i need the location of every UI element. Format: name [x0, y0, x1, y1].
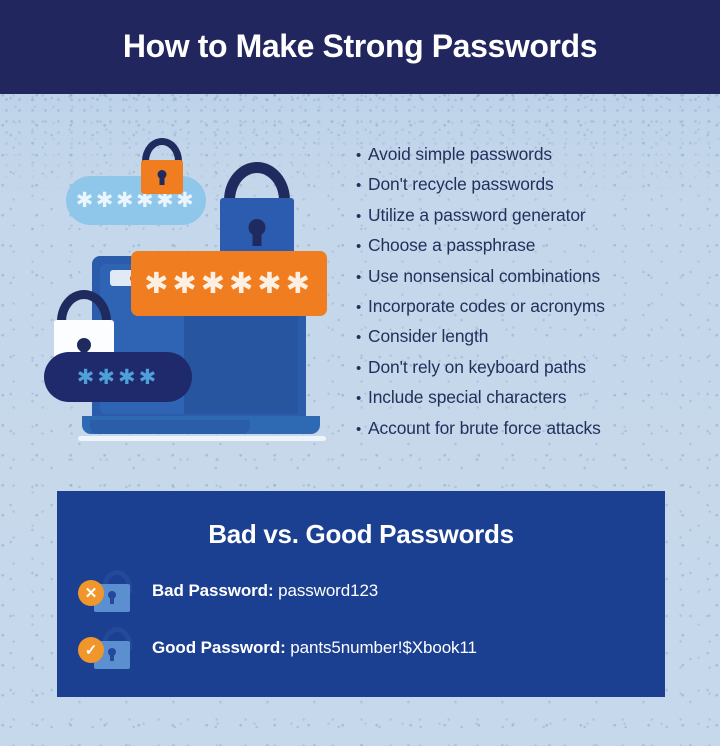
list-item: • Don't recycle passwords — [356, 174, 686, 204]
masked-password-field-orange: ✱✱✱✱✱✱ — [131, 251, 327, 316]
masked-password-field-light: ✱✱✱✱✱✱ — [66, 176, 206, 225]
list-item: • Utilize a password generator — [356, 205, 686, 235]
list-item: • Include special characters — [356, 387, 686, 417]
list-item-label: Include special characters — [368, 387, 566, 408]
list-item: • Account for brute force attacks — [356, 418, 686, 448]
good-padlock-icon: ✓ — [78, 627, 130, 669]
padlock-keyslot — [253, 230, 262, 246]
infographic-root: How to Make Strong Passwords ✱✱✱✱✱✱ ✱✱✱✱… — [0, 0, 720, 746]
orange-padlock-icon — [141, 138, 183, 194]
good-password-row: ✓ Good Password: pants5number!$Xbook11 — [78, 626, 477, 670]
list-item-label: Account for brute force attacks — [368, 418, 601, 439]
bullet-icon: • — [356, 422, 368, 437]
bullet-icon: • — [356, 178, 368, 193]
list-item-label: Consider length — [368, 326, 488, 347]
list-item: • Incorporate codes or acronyms — [356, 296, 686, 326]
page-title: How to Make Strong Passwords — [0, 28, 720, 65]
laptop-foot-line — [78, 436, 326, 441]
list-item-label: Choose a passphrase — [368, 235, 535, 256]
padlock-keyslot — [110, 596, 114, 604]
list-item: • Don't rely on keyboard paths — [356, 357, 686, 387]
password-illustration: ✱✱✱✱✱✱ ✱✱✱✱✱✱ ✱✱✱✱ — [34, 130, 354, 460]
bullet-icon: • — [356, 391, 368, 406]
list-item-label: Don't recycle passwords — [368, 174, 554, 195]
bad-password-value: password123 — [278, 581, 378, 600]
good-password-value: pants5number!$Xbook11 — [290, 638, 477, 657]
masked-password-field-dark: ✱✱✱✱ — [44, 352, 192, 402]
list-item: • Consider length — [356, 326, 686, 356]
bullet-icon: • — [356, 148, 368, 163]
masked-password-orange-value: ✱✱✱✱✱✱ — [144, 269, 314, 298]
bad-password-row: ✕ Bad Password: password123 — [78, 569, 378, 613]
bad-password-text: Bad Password: password123 — [152, 581, 378, 601]
list-item-label: Utilize a password generator — [368, 205, 586, 226]
list-item: • Use nonsensical combinations — [356, 266, 686, 296]
bullet-icon: • — [356, 239, 368, 254]
bad-padlock-icon: ✕ — [78, 570, 130, 612]
bullet-icon: • — [356, 209, 368, 224]
check-badge-icon: ✓ — [78, 637, 104, 663]
padlock-keyslot — [110, 653, 114, 661]
list-item-label: Incorporate codes or acronyms — [368, 296, 605, 317]
padlock-keyslot — [160, 176, 165, 185]
bullet-icon: • — [356, 270, 368, 285]
laptop-base-shadow — [90, 420, 250, 434]
list-item-label: Don't rely on keyboard paths — [368, 357, 586, 378]
list-item-label: Use nonsensical combinations — [368, 266, 600, 287]
tips-list: • Avoid simple passwords • Don't recycle… — [356, 144, 686, 448]
bullet-icon: • — [356, 361, 368, 376]
blue-padlock-icon — [220, 162, 294, 260]
list-item-label: Avoid simple passwords — [368, 144, 552, 165]
cross-badge-icon: ✕ — [78, 580, 104, 606]
bad-password-label: Bad Password: — [152, 581, 274, 600]
bullet-icon: • — [356, 330, 368, 345]
bullet-icon: • — [356, 300, 368, 315]
good-password-label: Good Password: — [152, 638, 286, 657]
comparison-panel-title: Bad vs. Good Passwords — [57, 519, 665, 550]
list-item: • Choose a passphrase — [356, 235, 686, 265]
good-password-text: Good Password: pants5number!$Xbook11 — [152, 638, 477, 658]
masked-password-dark-value: ✱✱✱✱ — [77, 367, 159, 388]
list-item: • Avoid simple passwords — [356, 144, 686, 174]
